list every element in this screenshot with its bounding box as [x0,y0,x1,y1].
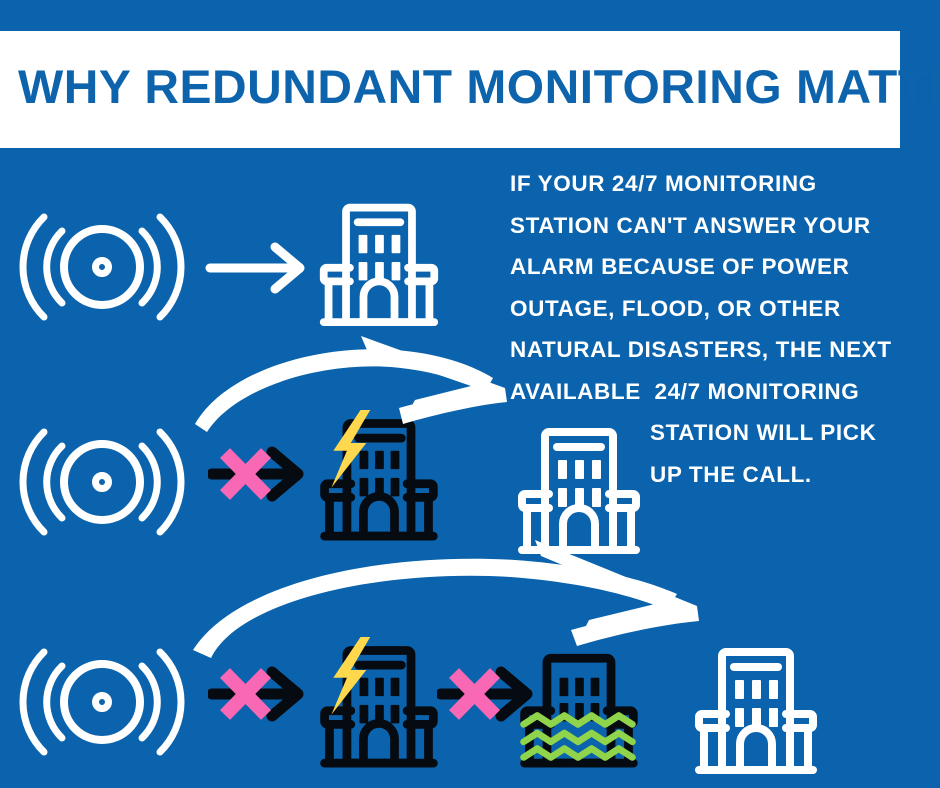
body-line: IF YOUR 24/7 MONITORING [510,163,918,205]
curved-arrow-icon [185,538,730,678]
building-white-icon [513,418,645,556]
arrow-right-icon [205,240,310,296]
body-line: STATION CAN'T ANSWER YOUR [510,205,918,247]
alarm-siren-icon [18,195,186,340]
alarm-siren-icon [18,630,186,775]
body-line: AVAILABLE 24/7 MONITORING [510,371,918,413]
page-title: WHY REDUNDANT MONITORING MATTERS [18,63,905,110]
body-line: NATURAL DISASTERS, THE NEXT [510,329,918,371]
alarm-siren-icon [18,410,186,555]
body-line: ALARM BECAUSE OF POWER [510,246,918,288]
body-line: OUTAGE, FLOOD, OR OTHER [510,288,918,330]
building-white-icon [315,194,443,328]
infographic-canvas: WHY REDUNDANT MONITORING MATTERS IF YOUR… [0,0,940,788]
building-white-icon [690,638,822,776]
curved-arrow-icon [185,332,535,454]
